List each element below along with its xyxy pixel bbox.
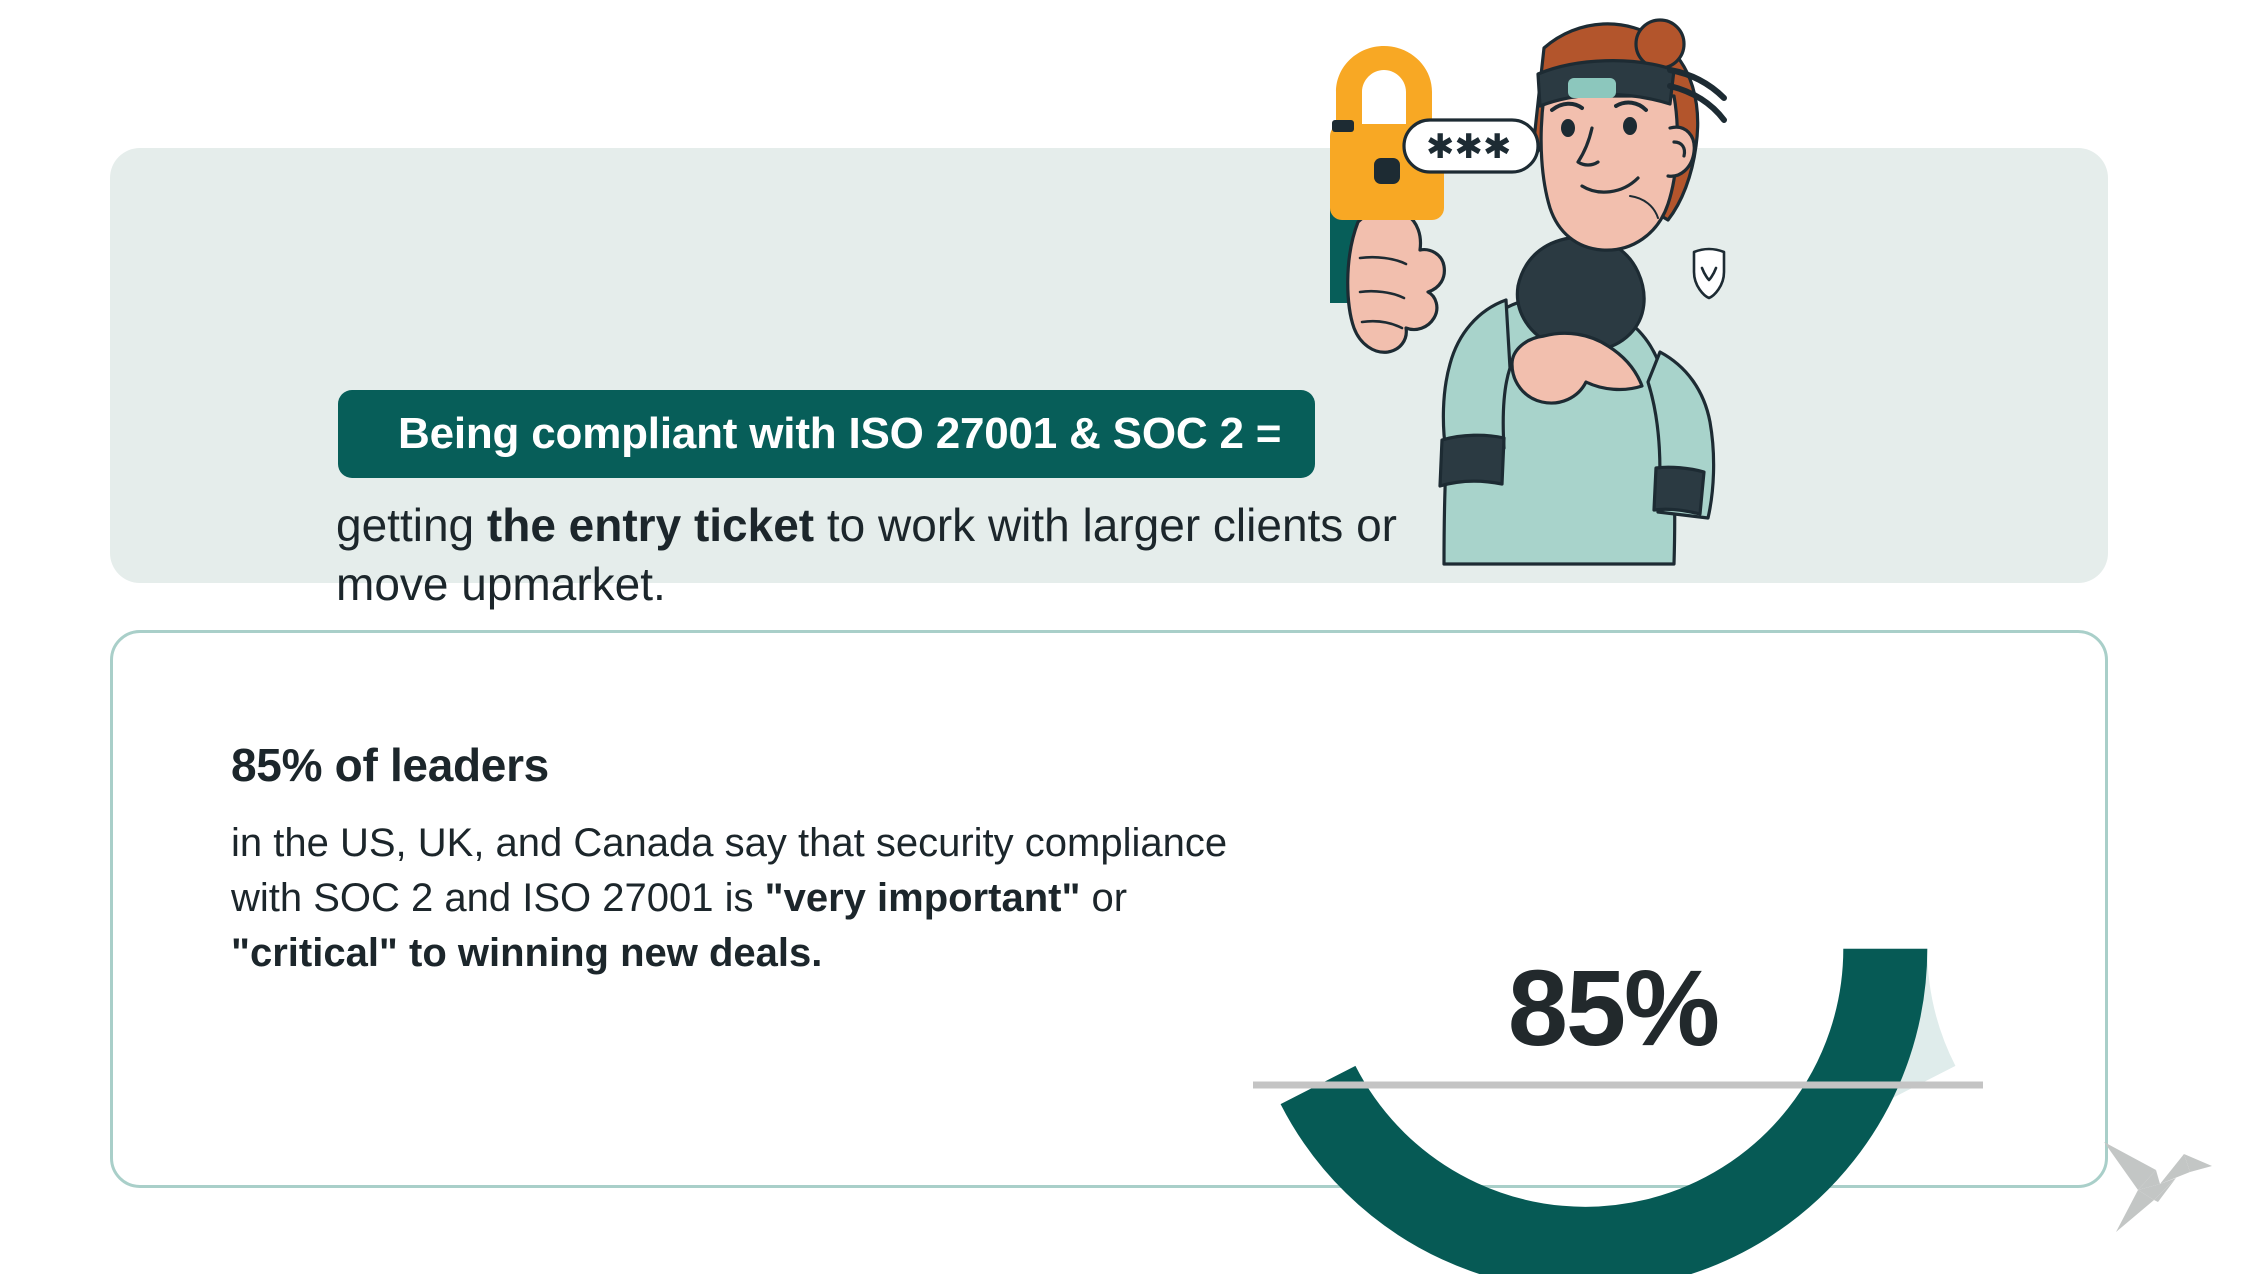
highlight-banner-text: Being compliant with ISO 27001 & SOC 2 = (398, 409, 1281, 459)
stat-paragraph: in the US, UK, and Canada say that secur… (231, 816, 1241, 982)
top-card-paragraph: getting the entry ticket to work with la… (336, 496, 1486, 614)
gauge-center-label: 85% (1193, 945, 2033, 1070)
stat-paragraph-bold2: "critical" to winning new deals. (231, 931, 822, 975)
stat-paragraph-part2: or (1080, 876, 1127, 920)
origami-bird-logo (2090, 1128, 2218, 1240)
highlight-banner: Being compliant with ISO 27001 & SOC 2 = (338, 390, 1315, 478)
top-callout-card: Being compliant with ISO 27001 & SOC 2 =… (110, 148, 2108, 583)
stat-text-block: 85% of leaders in the US, UK, and Canada… (231, 738, 1241, 982)
stat-paragraph-bold1: "very important" (765, 876, 1081, 920)
stat-card: 85% of leaders in the US, UK, and Canada… (110, 630, 2108, 1188)
top-paragraph-bold1: the entry ticket (487, 499, 814, 551)
stat-heading: 85% of leaders (231, 738, 1241, 792)
top-paragraph-part1: getting (336, 499, 487, 551)
gauge-chart: 85% (1193, 693, 2033, 1153)
